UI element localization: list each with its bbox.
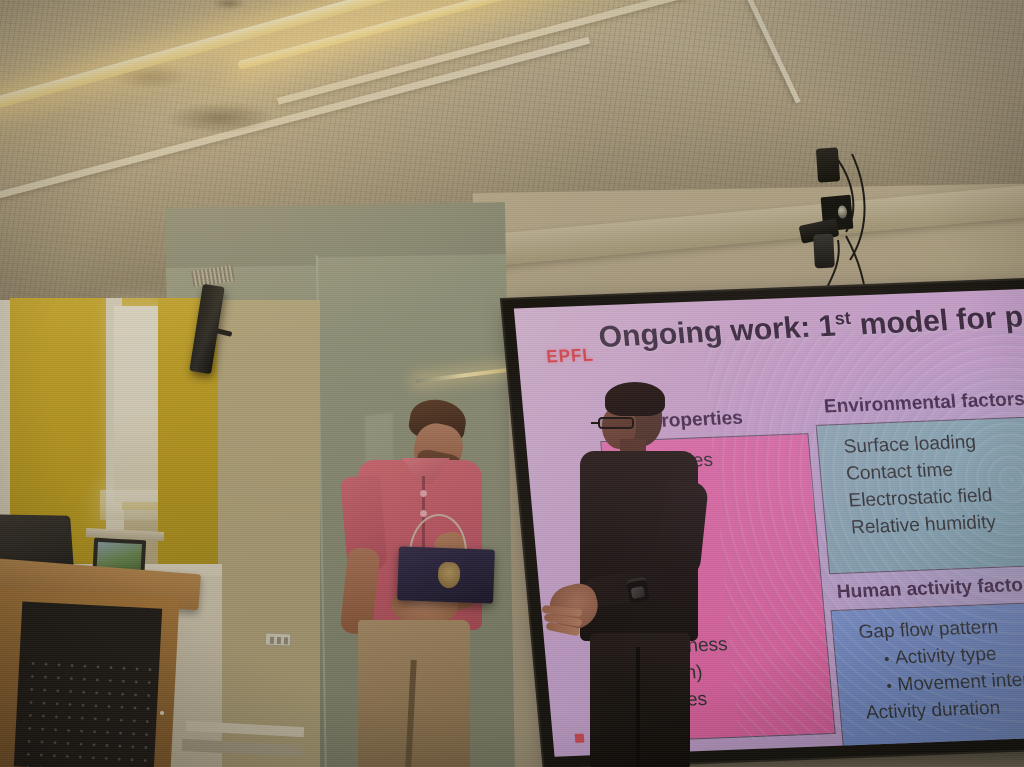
human-activity-factors-box: Gap flow pattern •Activity type •Movemen… [830, 600, 1024, 756]
list-item-label: Gap flow pattern [858, 617, 999, 643]
shirt-button [420, 510, 427, 517]
trouser-seam [636, 647, 640, 767]
lecture-hall-scene: EPFL Ongoing work: 1st model for particl… [0, 0, 1024, 767]
legs-dark-trousers [590, 633, 690, 767]
human-activity-factors-list: Gap flow pattern •Activity type •Movemen… [846, 612, 1024, 728]
list-item-label: Relative humidity [850, 512, 997, 538]
lectern-indicator-led [160, 711, 164, 715]
sleeve-right [655, 479, 709, 579]
slide-title-ordinal: st [834, 308, 852, 329]
shirt-button [420, 490, 427, 497]
list-item-label: Electrostatic field [848, 485, 994, 511]
gift-box [397, 546, 495, 603]
wall-mounted-camera [813, 233, 835, 268]
gift-box-emblem [438, 562, 461, 589]
list-item-label: Contact time [845, 460, 954, 485]
column-heading-human-activity-factors: Human activity factors [836, 574, 1024, 604]
environmental-factors-list: Surface loading Contact time Electrostat… [832, 427, 1024, 543]
list-item-label: Surface loading [843, 432, 977, 458]
wall-sensor-box [816, 147, 840, 182]
hair [605, 382, 665, 416]
slide-title-rest: model for particle re [850, 294, 1024, 341]
list-item-label: Movement intens [897, 669, 1024, 695]
list-item-label: Activity duration [865, 698, 1001, 724]
slide-title-main: Ongoing work: 1 [597, 310, 837, 354]
wristwatch [626, 576, 650, 603]
lectern-speaker-grille [21, 657, 157, 767]
presenter-dark-shirt [572, 385, 712, 767]
column-heading-environmental-factors: Environmental factors [823, 389, 1024, 419]
environmental-factors-box: Surface loading Contact time Electrostat… [816, 415, 1024, 574]
window-daylight [114, 306, 160, 502]
presenter-pink-shirt [336, 398, 511, 767]
list-item-label: Activity type [894, 644, 997, 669]
slide-title: Ongoing work: 1st model for particle re [597, 293, 1024, 355]
camera-lens-icon [837, 205, 847, 219]
wall-power-outlet [265, 633, 291, 647]
epfl-logo: EPFL [545, 345, 594, 368]
fingers [542, 607, 586, 637]
glasses-icon [598, 417, 634, 429]
